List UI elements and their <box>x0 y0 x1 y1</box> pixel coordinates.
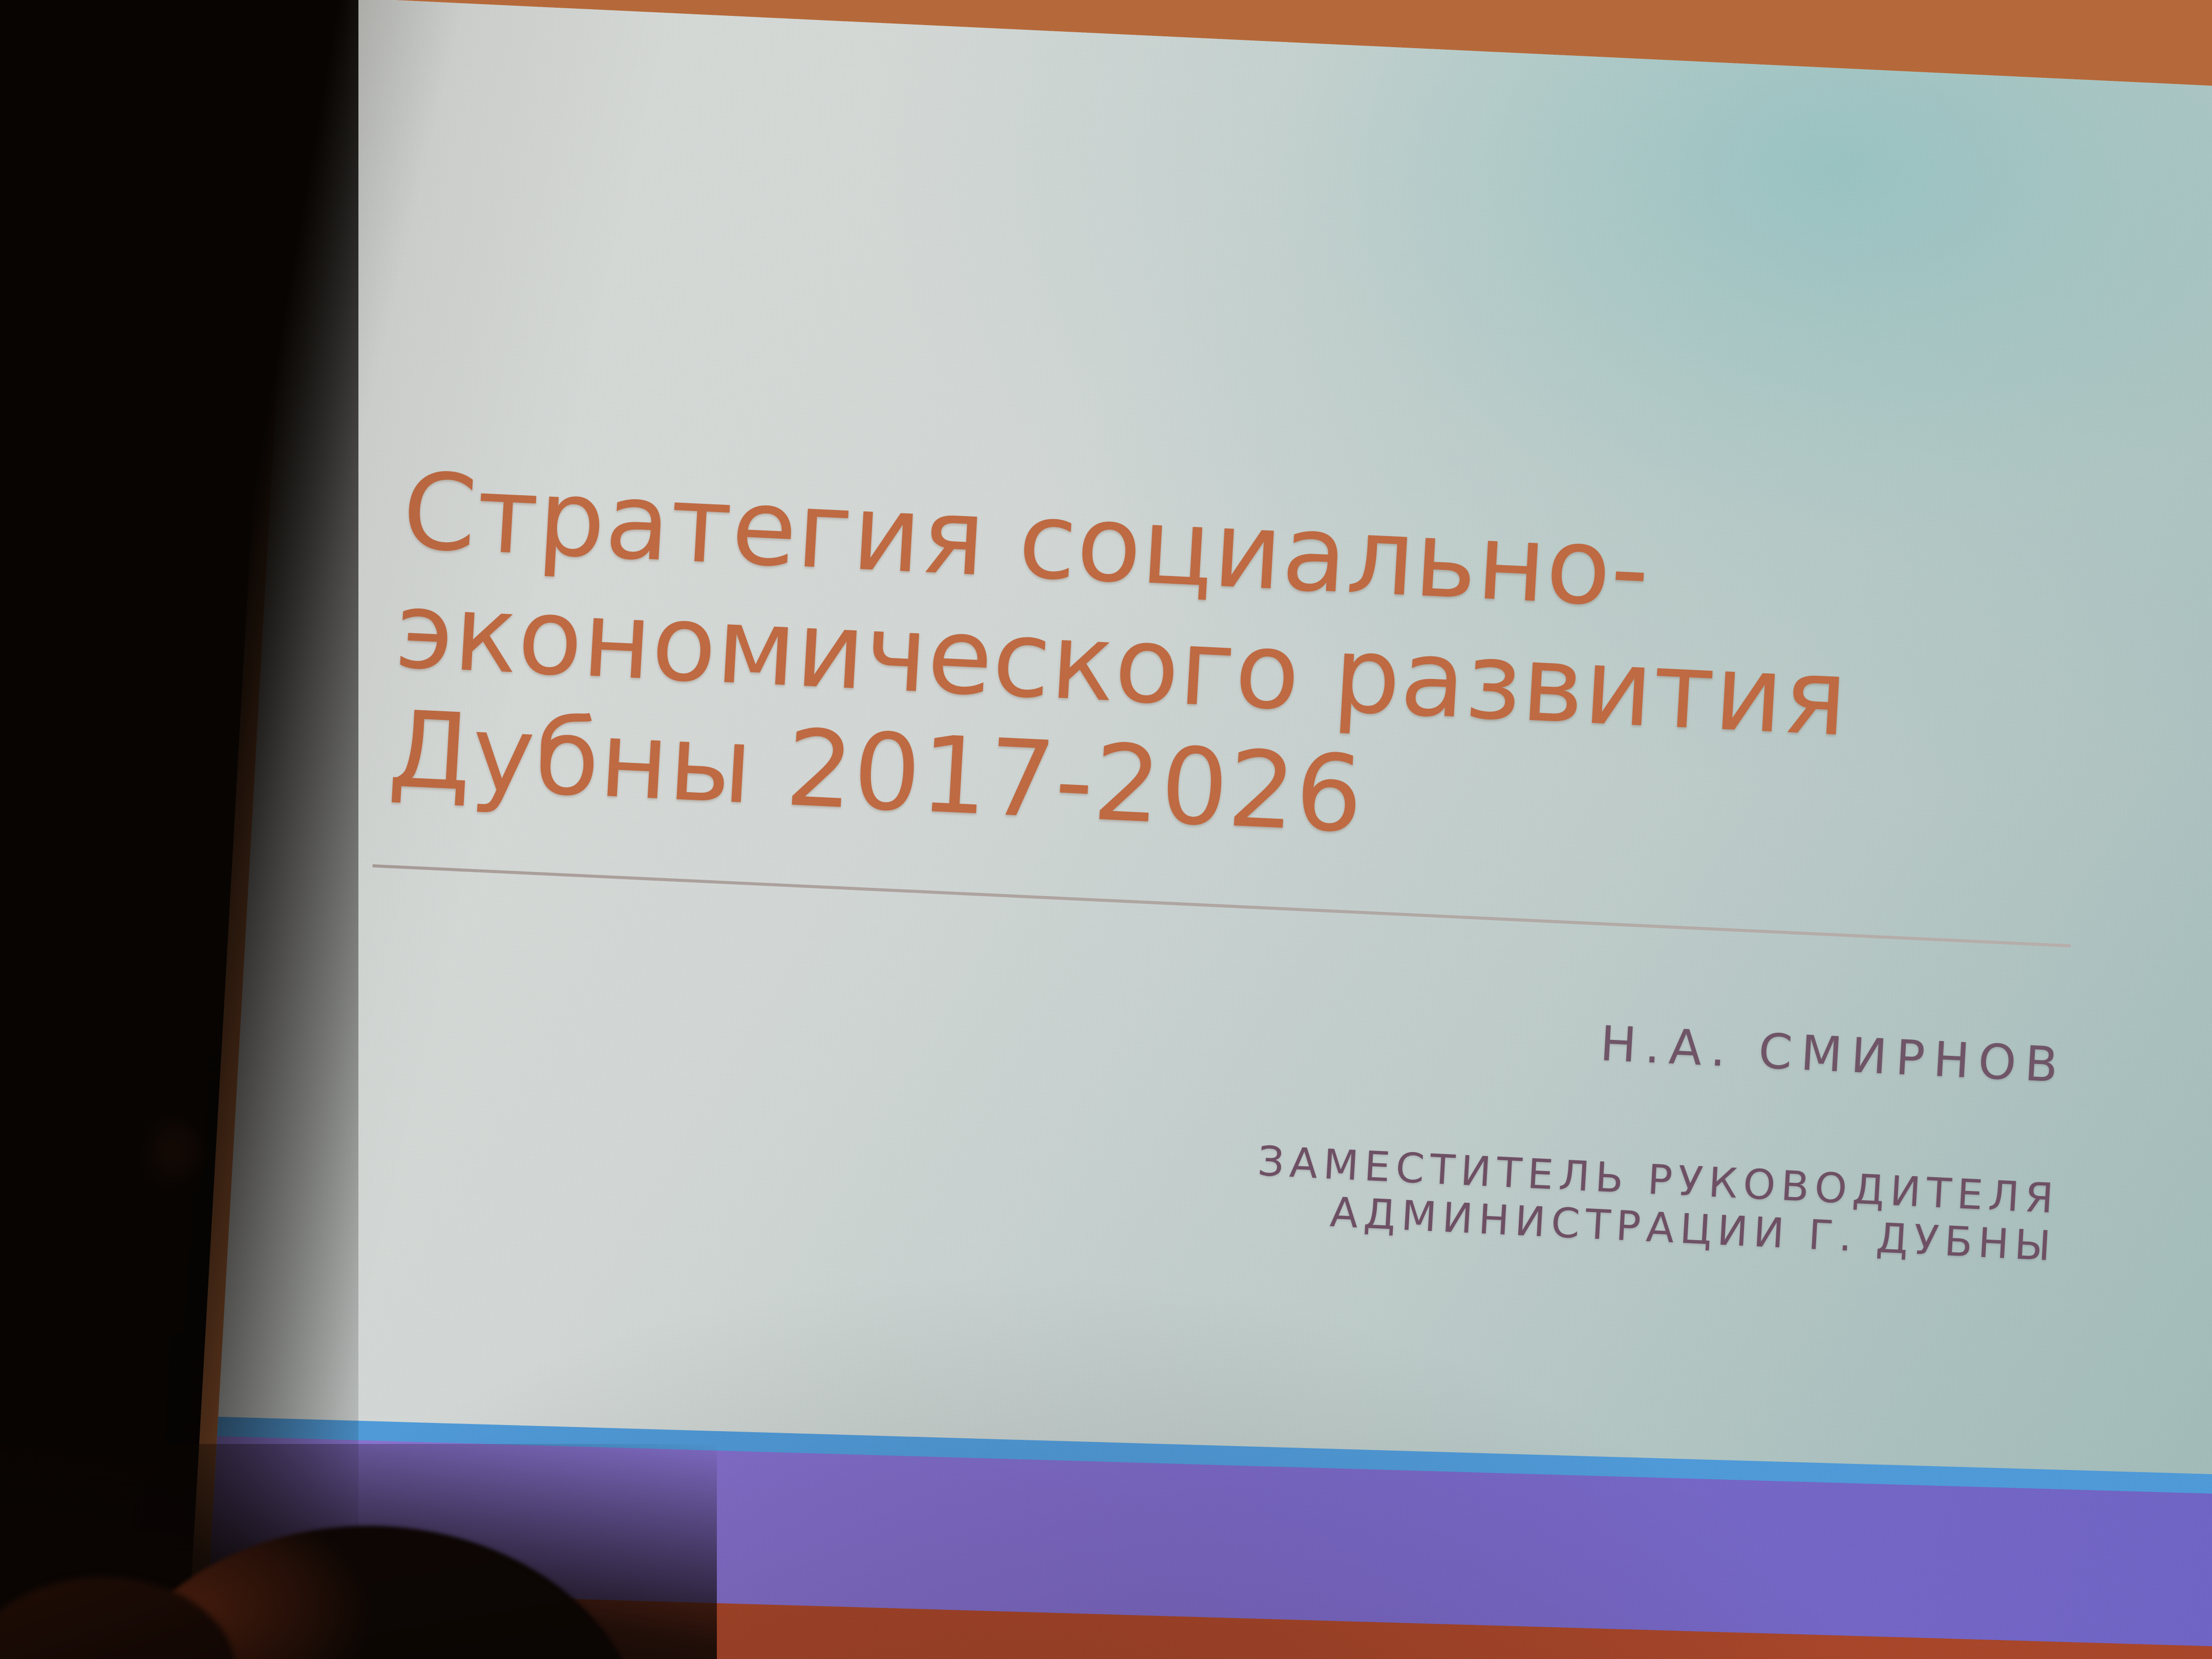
photo-scene: Стратегия социально- экономического разв… <box>0 0 2212 1659</box>
slide-title: Стратегия социально- экономического разв… <box>386 452 2069 887</box>
slide-byline: Н.А. СМИРНОВ ЗАМЕСТИТЕЛЬ РУКОВОДИТЕЛЯ АД… <box>231 951 2068 1270</box>
speaker-role: ЗАМЕСТИТЕЛЬ РУКОВОДИТЕЛЯ АДМИНИСТРАЦИИ Г… <box>231 1089 2060 1271</box>
presentation-slide: Стратегия социально- экономического разв… <box>205 0 2212 1659</box>
projection-screen: Стратегия социально- экономического разв… <box>188 0 2212 1659</box>
title-divider-rule <box>372 864 2071 947</box>
projection-screen-area: Стратегия социально- экономического разв… <box>0 0 2212 1659</box>
speaker-name: Н.А. СМИРНОВ <box>241 951 2068 1095</box>
